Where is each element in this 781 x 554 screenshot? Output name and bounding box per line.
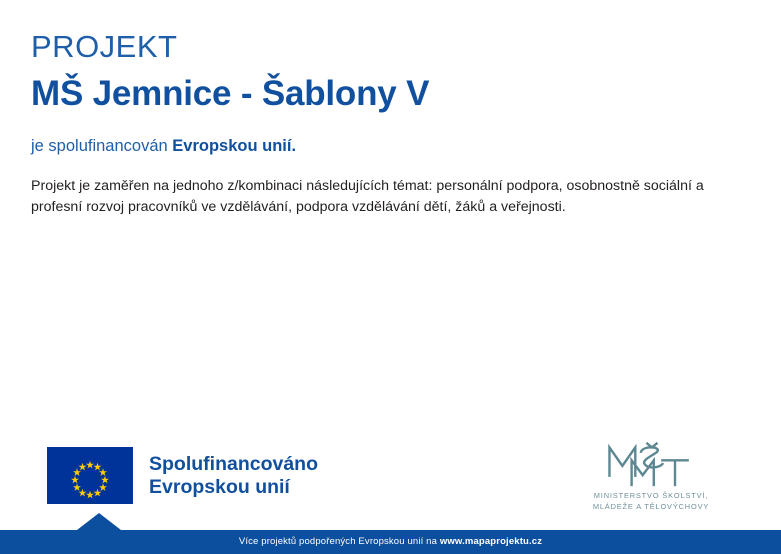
bottom-bar-prefix: Více projektů podpořených Evropskou unií… xyxy=(239,536,440,547)
poster-content: PROJEKT MŠ Jemnice - Šablony V je spoluf… xyxy=(31,30,741,218)
project-poster: PROJEKT MŠ Jemnice - Šablony V je spoluf… xyxy=(0,0,781,554)
subtitle-prefix: je spolufinancován xyxy=(31,137,172,155)
bottom-bar-link[interactable]: www.mapaprojektu.cz xyxy=(440,536,542,547)
msmt-caption-line1: MINISTERSTVO ŠKOLSTVÍ, xyxy=(566,491,736,502)
eu-logo-caption: Spolufinancováno Evropskou unií xyxy=(149,453,318,499)
page-kicker: PROJEKT xyxy=(31,30,741,64)
bar-arrow-up-icon xyxy=(77,513,121,530)
bottom-bar: Více projektů podpořených Evropskou unií… xyxy=(0,530,781,554)
eu-logo: Spolufinancováno Evropskou unií xyxy=(47,447,318,504)
eu-caption-line1: Spolufinancováno xyxy=(149,453,318,476)
eu-flag-icon xyxy=(47,447,133,504)
eu-caption-line2: Evropskou unií xyxy=(149,476,318,499)
logo-row: Spolufinancováno Evropskou unií xyxy=(0,440,781,520)
msmt-logo-caption: MINISTERSTVO ŠKOLSTVÍ, MLÁDEŽE A TĚLOVÝC… xyxy=(566,491,736,512)
subtitle-strong: Evropskou unií. xyxy=(172,137,296,155)
subtitle: je spolufinancován Evropskou unií. xyxy=(31,136,741,157)
page-title: MŠ Jemnice - Šablony V xyxy=(31,74,741,114)
bottom-bar-text: Více projektů podpořených Evropskou unií… xyxy=(0,530,781,554)
body-paragraph: Projekt je zaměřen na jednoho z/kombinac… xyxy=(31,176,741,219)
msmt-caption-line2: MLÁDEŽE A TĚLOVÝCHOVY xyxy=(566,502,736,513)
msmt-monogram-icon xyxy=(566,440,736,488)
msmt-logo: MINISTERSTVO ŠKOLSTVÍ, MLÁDEŽE A TĚLOVÝC… xyxy=(566,440,736,512)
